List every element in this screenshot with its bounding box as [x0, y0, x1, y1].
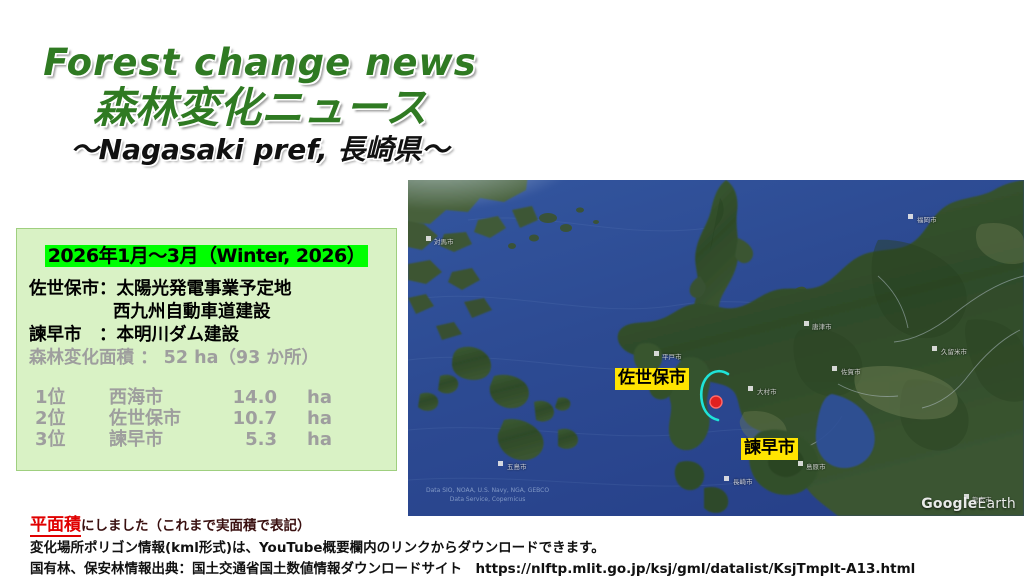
satellite-map[interactable]: 対馬市 五島市 長崎市 大村市 福岡市 佐賀市 唐津市 島原市 熊本市 平戸市 … — [408, 180, 1024, 516]
earth-wordmark: Earth — [977, 496, 1016, 512]
value-cell: 10.7 — [213, 409, 277, 430]
footer-highlight-term: 平面積 — [30, 515, 81, 537]
map-poi-label: 大村市 — [757, 386, 777, 396]
title-english: Forest change news — [0, 44, 520, 83]
map-attribution: Data SIO, NOAA, U.S. Navy, NGA, GEBCO Da… — [426, 486, 549, 504]
unit-cell: ha — [277, 388, 332, 409]
city-cell: 諫早市 — [109, 430, 213, 451]
map-attribution-line1: Data SIO, NOAA, U.S. Navy, NGA, GEBCO — [426, 486, 549, 495]
map-poi-label: 佐賀市 — [841, 366, 861, 376]
detail-line-1: 佐世保市：太陽光発電事業予定地 — [29, 278, 384, 301]
map-poi-label: 久留米市 — [941, 346, 967, 356]
page-title: Forest change news 森林変化ニュース 〜Nagasaki pr… — [0, 44, 520, 166]
rank-cell: 2位 — [29, 409, 109, 430]
value-cell: 5.3 — [213, 430, 277, 451]
date-heading-label: 2026年1月〜3月（Winter, 2026） — [45, 245, 369, 267]
map-label-sasebo: 佐世保市 — [615, 368, 689, 390]
map-poi-label: 長崎市 — [733, 476, 753, 486]
map-poi-label: 福岡市 — [917, 214, 937, 224]
map-poi-label: 五島市 — [507, 461, 527, 471]
google-wordmark: Google — [921, 496, 977, 512]
rank-cell: 3位 — [29, 430, 109, 451]
ranking-table: 1位 西海市 14.0 ha 2位 佐世保市 10.7 ha 3位 諫早市 5.… — [29, 388, 332, 451]
slide-root: Forest change news 森林変化ニュース 〜Nagasaki pr… — [0, 0, 1024, 576]
map-poi-label: 平戸市 — [662, 351, 682, 361]
unit-cell: ha — [277, 409, 332, 430]
detail-line-3: 諫早市 ：本明川ダム建設 — [29, 324, 384, 347]
detail-line-2: 西九州自動車道建設 — [29, 301, 384, 324]
info-panel: 2026年1月〜3月（Winter, 2026） 佐世保市：太陽光発電事業予定地… — [16, 228, 397, 471]
title-japanese: 森林変化ニュース — [0, 85, 520, 131]
value-cell: 14.0 — [213, 388, 277, 409]
table-row: 1位 西海市 14.0 ha — [29, 388, 332, 409]
footer-line-1-rest: にしました（これまで実面積で表記） — [81, 518, 311, 534]
map-poi-label: 唐津市 — [812, 321, 832, 331]
table-row: 2位 佐世保市 10.7 ha — [29, 409, 332, 430]
footer-line-1: 平面積にしました（これまで実面積で表記） — [30, 513, 1010, 538]
footer-line-2: 変化場所ポリゴン情報(kml形式)は、YouTube概要欄内のリンクからダウンロ… — [30, 538, 1010, 559]
title-subtitle: 〜Nagasaki pref, 長崎県〜 — [0, 134, 520, 166]
city-cell: 佐世保市 — [109, 409, 213, 430]
google-earth-watermark: GoogleEarth — [921, 496, 1016, 512]
map-attribution-line2: Data Service, Copernicus — [426, 495, 549, 504]
unit-cell: ha — [277, 430, 332, 451]
footer-notes: 平面積にしました（これまで実面積で表記） 変化場所ポリゴン情報(kml形式)は、… — [30, 513, 1010, 576]
map-label-isahaya: 諫早市 — [741, 438, 798, 460]
rank-cell: 1位 — [29, 388, 109, 409]
map-poi-label: 島原市 — [806, 461, 826, 471]
area-summary: 森林変化面積 ： 52 ha（93 か所） — [29, 347, 384, 371]
map-poi-label: 対馬市 — [434, 236, 454, 246]
map-imagery — [408, 180, 1024, 516]
table-row: 3位 諫早市 5.3 ha — [29, 430, 332, 451]
city-cell: 西海市 — [109, 388, 213, 409]
footer-line-3: 国有林、保安林情報出典：国土交通省国土数値情報ダウンロードサイト https:/… — [30, 559, 1010, 576]
change-area-marker — [710, 396, 722, 408]
date-heading: 2026年1月〜3月（Winter, 2026） — [29, 241, 384, 268]
